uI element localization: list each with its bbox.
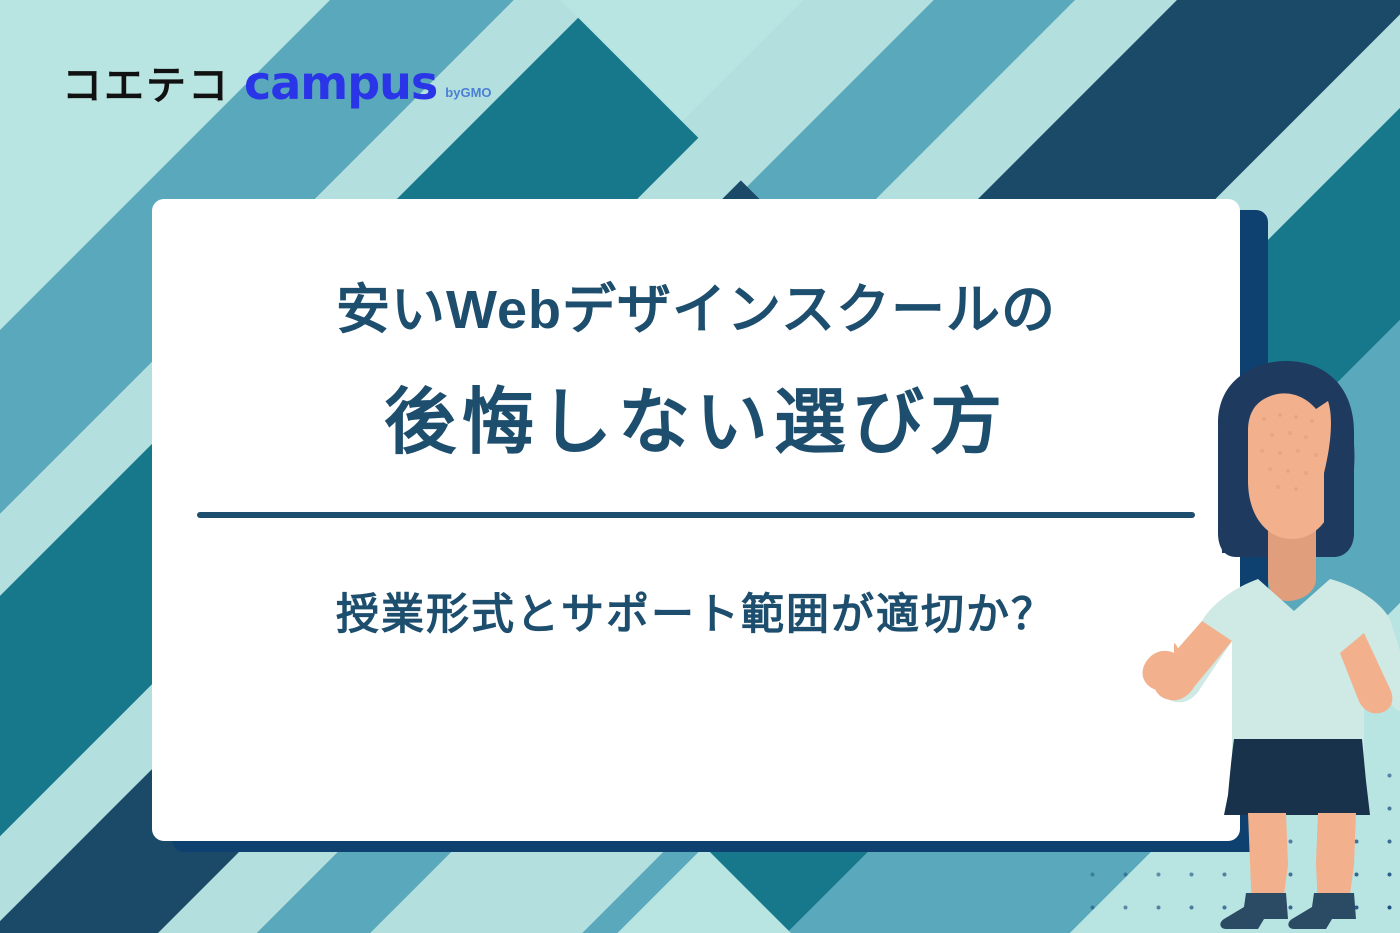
title-divider [197,512,1195,518]
right-boot-shape [1288,893,1356,929]
logo-campus-text: campus [244,60,437,106]
left-boot-shape [1220,893,1288,929]
brand-logo[interactable]: コエテコ campus byGMO [62,60,492,106]
content-card: 安いWebデザインスクールの 後悔しない選び方 授業形式とサポート範囲が適切か？ [152,199,1240,841]
skirt-shape [1224,739,1370,815]
subtitle-text: 授業形式とサポート範囲が適切か？ [336,590,1056,642]
woman-illustration [1140,353,1400,933]
logo-bygmo-text: byGMO [445,85,491,106]
thumbnail-canvas: コエテコ campus byGMO 安いWebデザインスクールの 後悔しない選び… [0,0,1400,933]
title-line-1: 安いWebデザインスクールの [336,281,1056,340]
title-line-2: 後悔しない選び方 [384,384,1008,463]
logo-koeteco-text: コエテコ [62,66,230,106]
